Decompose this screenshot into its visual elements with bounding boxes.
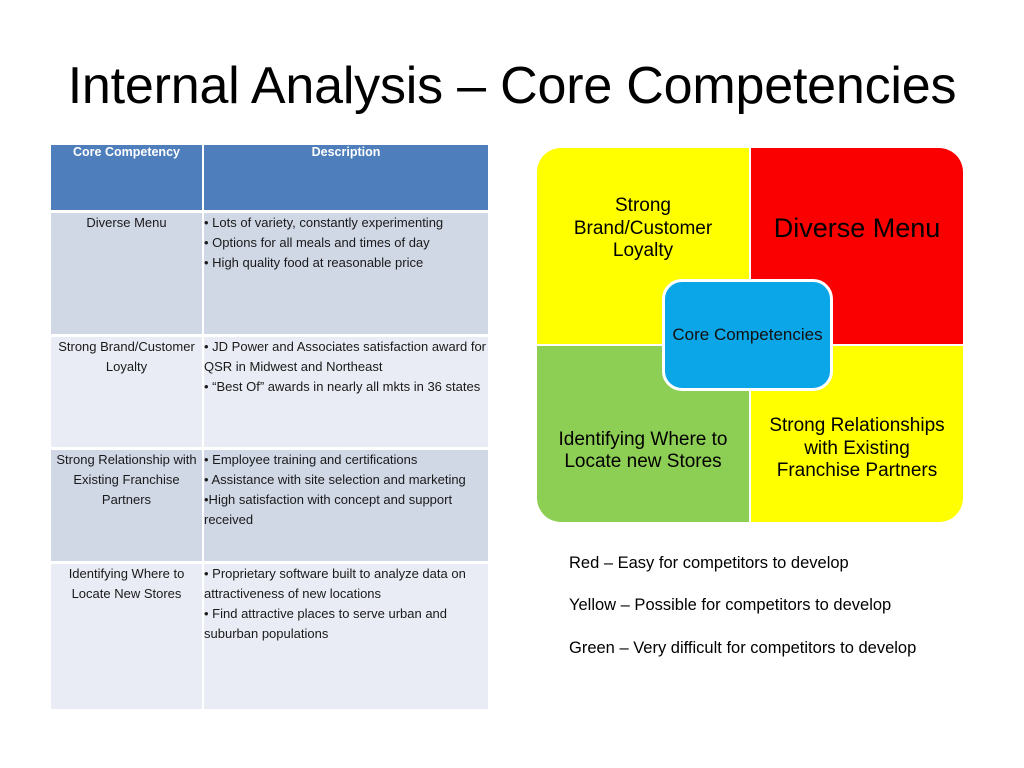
cell-competency-name: Strong Brand/Customer Loyalty xyxy=(51,337,204,450)
cell-description: • Proprietary software built to analyze … xyxy=(204,564,488,709)
table-row: Identifying Where to Locate New Stores •… xyxy=(51,564,488,709)
description-bullet: •High satisfaction with concept and supp… xyxy=(204,490,488,530)
cell-competency-name: Strong Relationship with Existing Franch… xyxy=(51,450,204,564)
column-header-description: Description xyxy=(204,145,488,213)
diagram-center-core-competencies: Core Competencies xyxy=(662,279,833,391)
column-header-core-competency: Core Competency xyxy=(51,145,204,213)
cell-description: • JD Power and Associates satisfaction a… xyxy=(204,337,488,450)
table-row: Strong Relationship with Existing Franch… xyxy=(51,450,488,564)
description-bullet: • Employee training and certifications xyxy=(204,450,488,470)
core-competency-table: Core Competency Description Diverse Menu… xyxy=(51,145,488,709)
table-row: Strong Brand/Customer Loyalty • JD Power… xyxy=(51,337,488,450)
cell-competency-name: Identifying Where to Locate New Stores xyxy=(51,564,204,709)
description-bullet: • Proprietary software built to analyze … xyxy=(204,564,488,604)
description-bullet: • Find attractive places to serve urban … xyxy=(204,604,488,644)
core-competencies-quadrant-diagram: Strong Brand/Customer Loyalty Diverse Me… xyxy=(537,148,963,522)
cell-description: • Lots of variety, constantly experiment… xyxy=(204,213,488,337)
description-bullet: • Assistance with site selection and mar… xyxy=(204,470,488,490)
description-bullet: • “Best Of” awards in nearly all mkts in… xyxy=(204,377,488,397)
table-row: Diverse Menu • Lots of variety, constant… xyxy=(51,213,488,337)
description-bullet: • JD Power and Associates satisfaction a… xyxy=(204,337,488,377)
table-header-row: Core Competency Description xyxy=(51,145,488,213)
color-legend: Red – Easy for competitors to develop Ye… xyxy=(569,552,969,660)
cell-competency-name: Diverse Menu xyxy=(51,213,204,337)
description-bullet: • Lots of variety, constantly experiment… xyxy=(204,213,488,233)
legend-item-yellow: Yellow – Possible for competitors to dev… xyxy=(569,594,969,617)
description-bullet: • Options for all meals and times of day xyxy=(204,233,488,253)
page-title: Internal Analysis – Core Competencies xyxy=(0,58,1024,115)
legend-item-green: Green – Very difficult for competitors t… xyxy=(569,637,969,660)
description-bullet: • High quality food at reasonable price xyxy=(204,253,488,273)
cell-description: • Employee training and certifications •… xyxy=(204,450,488,564)
legend-item-red: Red – Easy for competitors to develop xyxy=(569,552,969,575)
